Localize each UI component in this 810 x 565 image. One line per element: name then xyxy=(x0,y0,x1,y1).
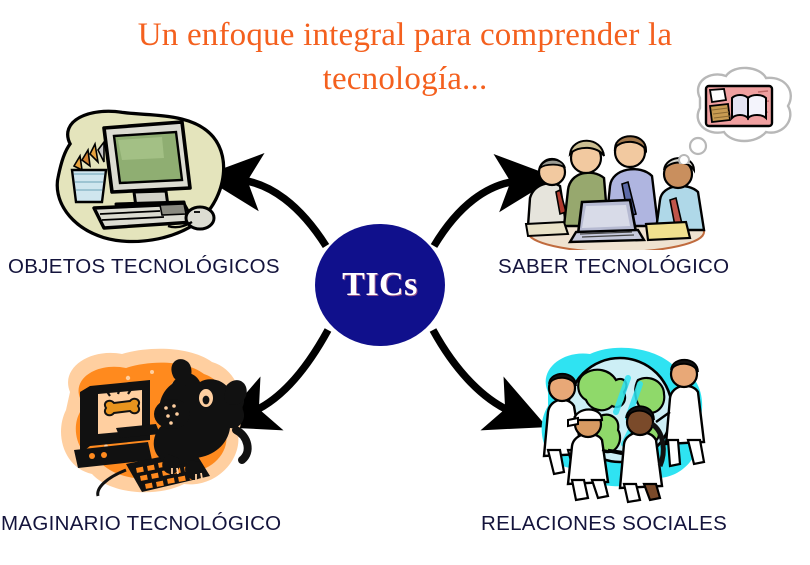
person-right xyxy=(656,158,704,230)
children-around-globe-icon xyxy=(524,340,714,506)
keyboard-icon xyxy=(94,204,194,228)
arrow-center-to-saber xyxy=(434,181,518,246)
computer-silhouette xyxy=(74,380,160,468)
thought-bubble-icon xyxy=(672,62,804,164)
book-thumbnail xyxy=(706,86,772,126)
label-imaginario-tecnologico: IMAGINARIO TECNOLÓGICO xyxy=(0,512,281,536)
slide-canvas: Un enfoque integral para comprender la t… xyxy=(0,0,810,565)
arrow-center-to-imaginario xyxy=(252,330,328,412)
arrow-center-to-relaciones xyxy=(433,330,512,412)
person-left xyxy=(528,159,566,226)
dog-with-computer-icon xyxy=(44,342,256,502)
label-saber-tecnologico: SABER TECNOLÓGICO xyxy=(498,255,729,279)
central-node-tics[interactable]: TICs xyxy=(315,224,445,346)
arrow-center-to-objetos xyxy=(240,180,326,246)
central-node-label: TICs xyxy=(342,266,418,304)
label-relaciones-sociales: RELACIONES SOCIALES xyxy=(481,512,727,536)
desktop-computer-icon xyxy=(42,104,232,249)
label-objetos-tecnologicos: OBJETOS TECNOLÓGICOS xyxy=(8,255,280,279)
